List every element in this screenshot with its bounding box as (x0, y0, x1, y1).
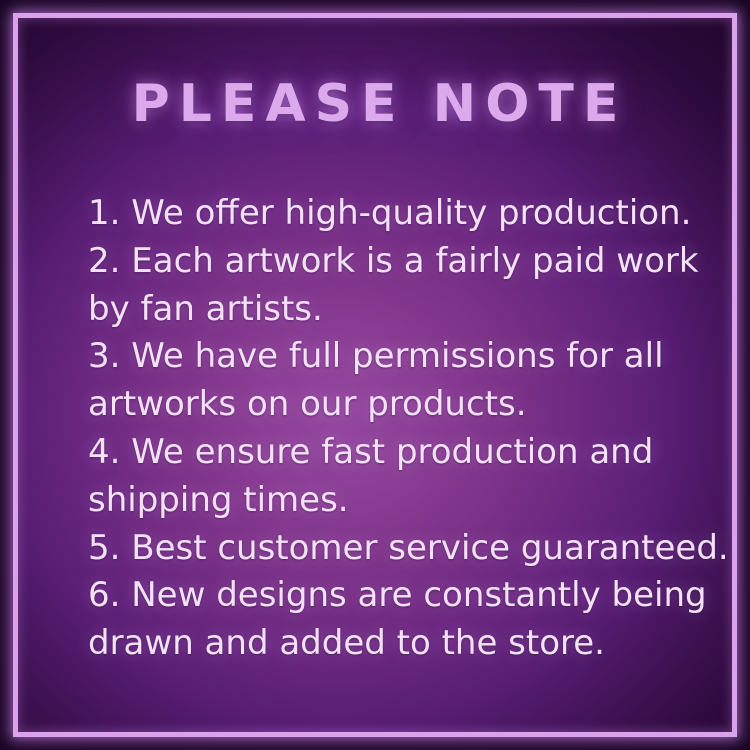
list-item: 3. We have full permissions for all (88, 333, 710, 381)
list-item: 6. New designs are constantly being (88, 572, 710, 620)
page-title: PLEASE NOTE (0, 78, 750, 130)
list-item: by fan artists. (88, 286, 710, 334)
list-item: drawn and added to the store. (88, 620, 710, 668)
notes-list: 1. We offer high-quality production. 2. … (88, 190, 710, 668)
list-item: 5. Best customer service guaranteed. (88, 525, 710, 573)
card-content: PLEASE NOTE 1. We offer high-quality pro… (0, 0, 750, 750)
note-card-graphic: PLEASE NOTE 1. We offer high-quality pro… (0, 0, 750, 750)
list-item: artworks on our products. (88, 381, 710, 429)
list-item: 4. We ensure fast production and (88, 429, 710, 477)
list-item: 2. Each artwork is a fairly paid work (88, 238, 710, 286)
list-item: 1. We offer high-quality production. (88, 190, 710, 238)
list-item: shipping times. (88, 477, 710, 525)
